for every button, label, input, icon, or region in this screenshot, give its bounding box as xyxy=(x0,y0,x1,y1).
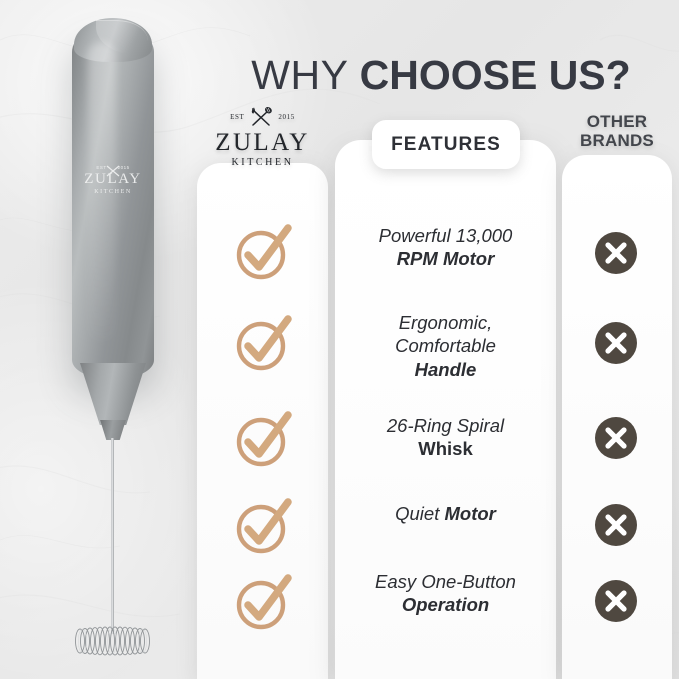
zulay-kitchen-logo: EST 2015 ZULAY KITCHEN xyxy=(197,106,328,168)
logo-est-right: 2015 xyxy=(278,114,294,121)
feature-text: Quiet Motor xyxy=(341,502,550,525)
logo-brand-name: ZULAY xyxy=(197,130,328,155)
page-title: WHY CHOOSE US? xyxy=(215,55,667,96)
feature-text: 26-Ring Spiral Whisk xyxy=(341,414,550,461)
crossed-utensils-icon xyxy=(248,106,274,128)
check-icon xyxy=(232,222,294,284)
features-header-card: FEATURES xyxy=(372,120,520,169)
feature-line: Handle xyxy=(415,359,477,380)
logo-brand-sub: KITCHEN xyxy=(197,158,328,168)
cross-icon xyxy=(591,576,641,626)
feature-line: Ergonomic, xyxy=(341,311,550,334)
feature-text: Ergonomic, Comfortable Handle xyxy=(341,311,550,381)
feature-text: Powerful 13,000 RPM Motor xyxy=(341,224,550,271)
cross-icon xyxy=(591,318,641,368)
cross-icon xyxy=(591,228,641,278)
feature-line: 26-Ring Spiral xyxy=(341,414,550,437)
infographic-canvas: EST 2015 ZULAY KITCHEN WHY CHOOSE US? ES… xyxy=(0,0,679,679)
cross-icon xyxy=(591,500,641,550)
frother-shaft xyxy=(111,438,114,634)
logo-est-left: EST xyxy=(230,114,244,121)
feature-line: Easy One-Button xyxy=(341,570,550,593)
check-icon xyxy=(232,496,294,558)
feature-line: Operation xyxy=(402,594,489,615)
page-title-bold: CHOOSE US? xyxy=(360,52,631,98)
other-brands-line1: OTHER xyxy=(562,112,672,131)
feature-text: Easy One-Button Operation xyxy=(341,570,550,617)
feature-line: Powerful 13,000 xyxy=(341,224,550,247)
product-image-milk-frother: EST 2015 ZULAY KITCHEN xyxy=(52,8,197,676)
frother-collar xyxy=(99,420,127,440)
feature-line: Comfortable xyxy=(341,334,550,357)
cross-icon xyxy=(591,413,641,463)
other-brands-header: OTHER BRANDS xyxy=(562,112,672,150)
page-title-light: WHY xyxy=(251,52,359,98)
frother-taper xyxy=(80,363,146,425)
check-icon xyxy=(232,313,294,375)
other-brands-line2: BRANDS xyxy=(562,131,672,150)
feature-line: Quiet xyxy=(395,503,444,524)
check-icon xyxy=(232,409,294,471)
frother-highlight xyxy=(88,42,116,342)
check-icon xyxy=(232,572,294,634)
feature-line: Whisk xyxy=(418,438,472,459)
feature-line: RPM Motor xyxy=(397,248,495,269)
features-header-label: FEATURES xyxy=(391,134,501,156)
whisk-coil-icon xyxy=(71,626,155,656)
feature-line: Motor xyxy=(444,503,495,524)
